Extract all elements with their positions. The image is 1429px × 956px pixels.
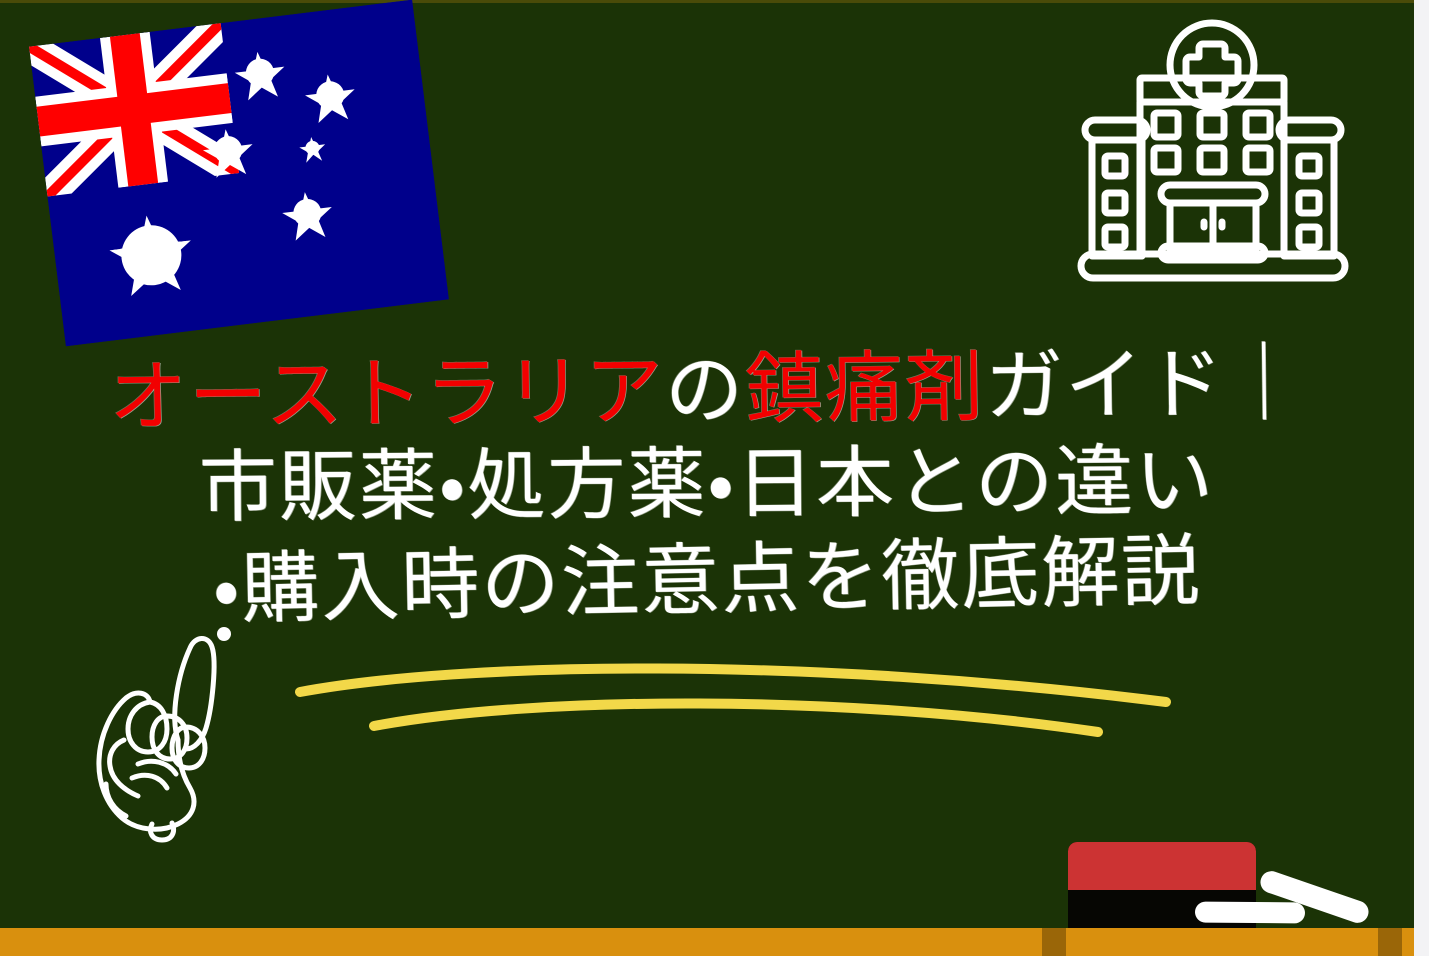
thumbnail-canvas: オーストラリアの鎮痛剤ガイド｜ 市販薬・処方薬・日本との違い ・購入時の注意点を…	[0, 0, 1429, 956]
eraser-felt	[1068, 842, 1256, 890]
title-seg-painkiller: 鎮痛剤	[744, 343, 985, 436]
title-seg-no: の	[664, 346, 745, 437]
chalk-stick	[1195, 902, 1305, 924]
australian-flag-icon	[29, 0, 449, 346]
title-seg-guide: ガイド｜	[984, 339, 1305, 433]
chalkboard-top-edge	[0, 0, 1414, 3]
title-line-3: ・購入時の注意点を徹底解説	[0, 528, 1415, 633]
right-margin-strip	[1414, 0, 1429, 956]
pointing-hand-icon	[66, 612, 256, 857]
hospital-building-icon	[1057, 8, 1367, 308]
title-line-2: 市販薬・処方薬・日本との違い	[0, 441, 1414, 529]
chalk-tray-divider	[1042, 928, 1066, 956]
title-seg-country: オーストラリア	[108, 347, 665, 444]
title-line-1: オーストラリアの鎮痛剤ガイド｜	[0, 343, 1414, 438]
chalk-tray	[0, 928, 1414, 956]
chalk-tray-divider	[1378, 928, 1402, 956]
title-block: オーストラリアの鎮痛剤ガイド｜ 市販薬・処方薬・日本との違い ・購入時の注意点を…	[0, 352, 1414, 620]
